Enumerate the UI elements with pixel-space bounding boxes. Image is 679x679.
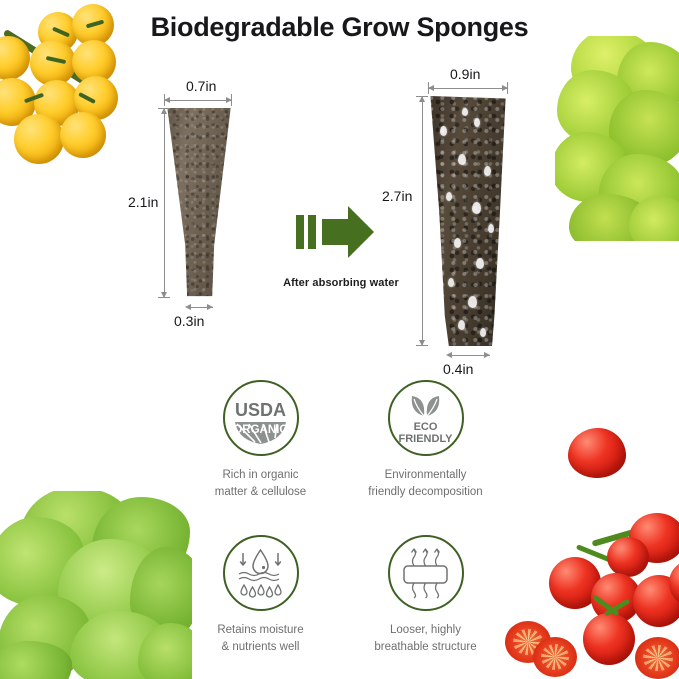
eco-badge-line1: ECO [414,421,438,433]
usda-badge-line1: USDA [235,400,286,420]
feature-breathable-caption: Looser, highly breathable structure [343,622,508,655]
caption-line-1: Looser, highly [343,622,508,639]
caption-line-1: Rich in organic [178,467,343,484]
eco-badge-line2: FRIENDLY [399,433,454,445]
sponge-comparison-diagram: 0.7in 2.1in 0.3in After absorbing water [0,58,679,348]
transition-caption: After absorbing water [266,277,416,289]
breathable-structure-icon [388,535,464,611]
dry-top-width-label: 0.7in [186,78,216,94]
right-arrow-icon [296,206,374,263]
eco-friendly-seal-icon: ECO FRIENDLY [388,380,464,456]
red-cherry-tomatoes-photo [483,491,679,679]
caption-line-1: Retains moisture [178,622,343,639]
butterhead-lettuce-photo [0,491,192,679]
page-title: Biodegradable Grow Sponges [0,12,679,43]
feature-breathable: Looser, highly breathable structure [343,535,508,655]
usda-organic-seal-icon: USDA ORGANIC [223,380,299,456]
dry-bottom-width-label: 0.3in [174,313,204,329]
caption-line-2: friendly decomposition [343,484,508,501]
wet-sponge-body [428,96,508,346]
caption-line-2: matter & cellulose [178,484,343,501]
caption-line-2: breathable structure [343,639,508,656]
feature-organic-caption: Rich in organic matter & cellulose [178,467,343,500]
caption-line-1: Environmentally [343,467,508,484]
dry-sponge-body [166,108,232,298]
moisture-retention-icon [223,535,299,611]
feature-list: USDA ORGANIC Rich in organic matter & ce… [178,380,508,670]
usda-badge-line2: ORGANIC [233,424,287,436]
feature-eco-friendly: ECO FRIENDLY Environmentally friendly de… [343,380,508,500]
single-red-tomato-photo [568,428,626,480]
dry-height-label: 2.1in [128,194,158,210]
caption-line-2: & nutrients well [178,639,343,656]
feature-organic: USDA ORGANIC Rich in organic matter & ce… [178,380,343,500]
wet-height-label: 2.7in [382,188,412,204]
wet-bottom-width-label: 0.4in [443,361,473,377]
feature-moisture: Retains moisture & nutrients well [178,535,343,655]
feature-moisture-caption: Retains moisture & nutrients well [178,622,343,655]
wet-top-width-label: 0.9in [450,66,480,82]
feature-eco-friendly-caption: Environmentally friendly decomposition [343,467,508,500]
product-infographic: Biodegradable Grow Sponges 0.7in 2.1in 0… [0,0,679,679]
